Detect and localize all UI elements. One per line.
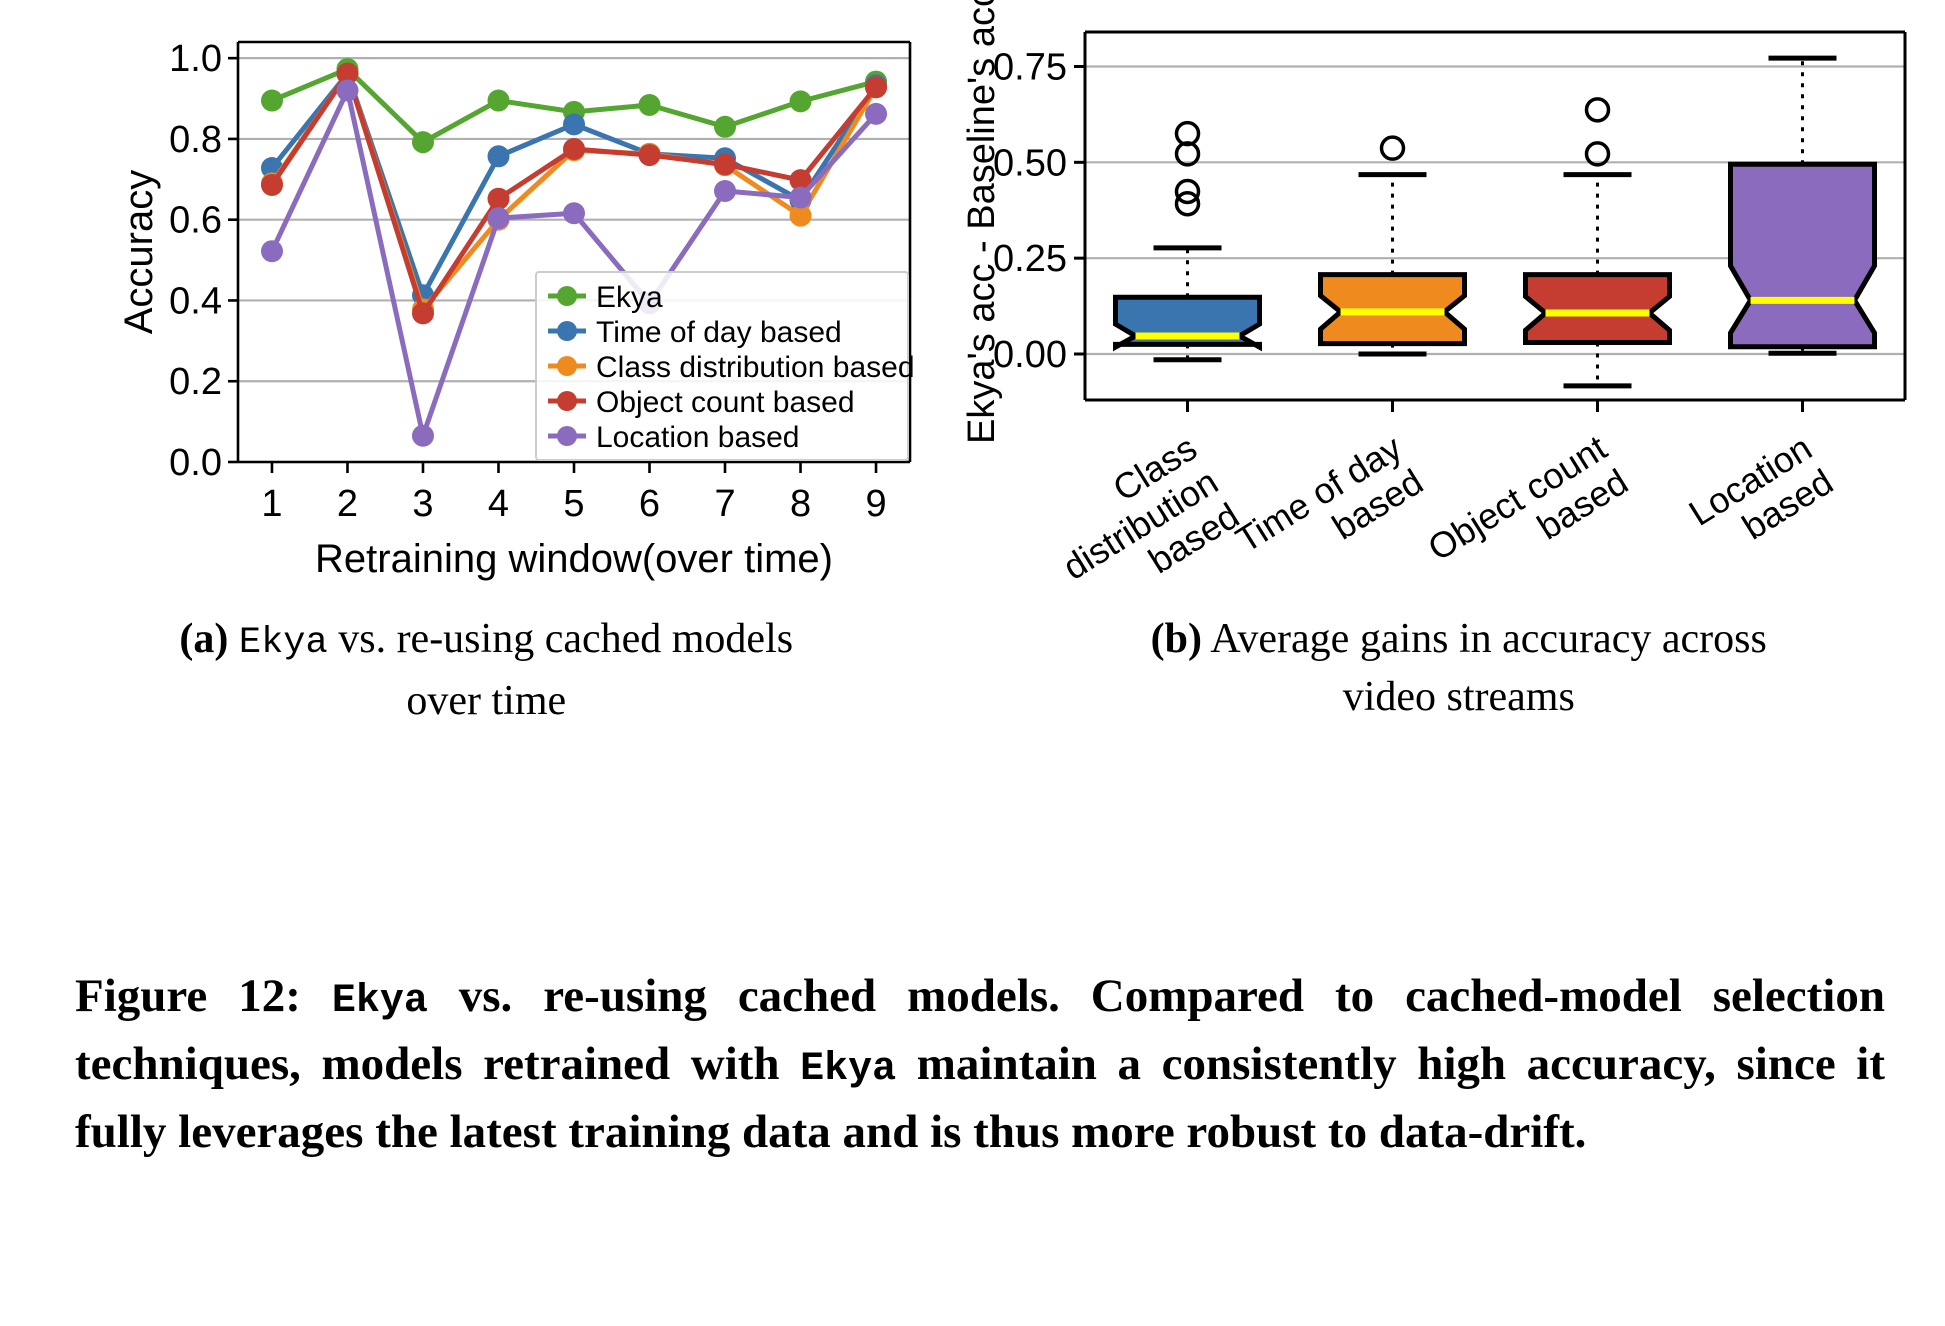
xtick-label: 2 xyxy=(337,483,358,525)
data-point xyxy=(261,90,283,112)
figure-12: 0.00.20.40.60.81.0123456789Retraining wi… xyxy=(0,0,1945,1326)
legend: EkyaTime of day basedClass distribution … xyxy=(536,272,915,460)
panel-a-line-chart: 0.00.20.40.60.81.0123456789Retraining wi… xyxy=(120,10,940,590)
legend-swatch-marker xyxy=(557,426,577,446)
ytick-label: 0.0 xyxy=(169,442,222,484)
figure-panels: 0.00.20.40.60.81.0123456789Retraining wi… xyxy=(0,0,1945,600)
data-point xyxy=(487,145,509,167)
boxplot-class-distribution-based xyxy=(1116,123,1260,360)
data-point xyxy=(790,186,812,208)
ytick-label: 0.4 xyxy=(169,280,222,322)
ytick-label: 0.6 xyxy=(169,200,222,242)
data-point xyxy=(865,76,887,98)
outlier-point xyxy=(1382,137,1404,159)
data-point xyxy=(412,131,434,153)
xtick-label: 1 xyxy=(261,483,282,525)
data-point xyxy=(714,116,736,138)
data-point xyxy=(639,144,661,166)
caption-mono-2: Ekya xyxy=(800,1047,896,1092)
data-point xyxy=(336,79,358,101)
subcaption-a-mono: Ekya xyxy=(239,622,328,664)
x-axis-label: Retraining window(over time) xyxy=(315,537,833,581)
data-point xyxy=(412,425,434,447)
boxplot-object-count-based xyxy=(1526,99,1670,386)
y-axis-label: Accuracy xyxy=(120,170,161,335)
outlier-point xyxy=(1587,99,1609,121)
data-point xyxy=(412,302,434,324)
data-point xyxy=(714,153,736,175)
subcaption-a-tag: (a) xyxy=(179,616,228,662)
subcaption-a: (a) Ekya vs. re-using cached models over… xyxy=(0,610,973,780)
box-plot-svg: 0.000.250.500.75Ekya's acc - Baseline's … xyxy=(960,0,1945,600)
box-body xyxy=(1526,275,1670,343)
data-point xyxy=(563,113,585,135)
data-point xyxy=(487,90,509,112)
legend-label: Time of day based xyxy=(596,316,842,349)
legend-label: Ekya xyxy=(596,281,663,314)
legend-label: Object count based xyxy=(596,386,855,419)
ytick-label: 0.2 xyxy=(169,361,222,403)
xtick-label: 5 xyxy=(563,483,584,525)
legend-item: Class distribution based xyxy=(548,351,915,384)
legend-swatch-marker xyxy=(557,321,577,341)
xtick-label: Time of daybased xyxy=(1229,427,1430,595)
data-point xyxy=(563,138,585,160)
legend-swatch-marker xyxy=(557,356,577,376)
legend-label: Class distribution based xyxy=(596,351,915,384)
box-body xyxy=(1731,164,1875,346)
xtick-label: 7 xyxy=(714,483,735,525)
subcaptions: (a) Ekya vs. re-using cached models over… xyxy=(0,610,1945,780)
data-point xyxy=(714,180,736,202)
ytick-label: 1.0 xyxy=(169,38,222,80)
xtick-label: Locationbased xyxy=(1682,427,1840,568)
line-chart-svg: 0.00.20.40.60.81.0123456789Retraining wi… xyxy=(120,10,940,590)
subcaption-a-text: vs. re-using cached models over time xyxy=(328,616,793,724)
data-point xyxy=(790,90,812,112)
subcaption-b-tag: (b) xyxy=(1151,616,1202,662)
box-body xyxy=(1116,297,1260,347)
data-point xyxy=(261,240,283,262)
boxplot-location-based xyxy=(1731,58,1875,353)
xtick-label: 4 xyxy=(488,483,509,525)
data-point xyxy=(261,174,283,196)
xtick-label: 8 xyxy=(790,483,811,525)
ytick-label: 0.8 xyxy=(169,119,222,161)
data-point xyxy=(487,207,509,229)
ytick-label: 0.25 xyxy=(993,238,1067,280)
xtick-label: Classdistributionbased xyxy=(1034,427,1246,600)
xtick-label: Object countbased xyxy=(1421,427,1635,600)
y-axis-label: Ekya's acc - Baseline's acc xyxy=(961,0,1003,444)
ytick-label: 0.75 xyxy=(993,47,1067,89)
caption-label: Figure 12: xyxy=(75,970,301,1022)
caption-mono-1: Ekya xyxy=(332,979,428,1024)
legend-label: Location based xyxy=(596,421,800,454)
data-point xyxy=(563,202,585,224)
subcaption-b: (b) Average gains in accuracy across vid… xyxy=(973,610,1945,780)
boxplot-time-of-day-based xyxy=(1321,137,1465,354)
panel-b-box-plot: 0.000.250.500.75Ekya's acc - Baseline's … xyxy=(960,0,1945,600)
xtick-label: 3 xyxy=(412,483,433,525)
data-point xyxy=(639,94,661,116)
legend-swatch-marker xyxy=(557,391,577,411)
xtick-label: 9 xyxy=(865,483,886,525)
legend-swatch-marker xyxy=(557,286,577,306)
data-point xyxy=(487,188,509,210)
xtick-label: 6 xyxy=(639,483,660,525)
data-point xyxy=(865,103,887,125)
figure-caption: Figure 12: Ekya vs. re-using cached mode… xyxy=(75,965,1885,1163)
ytick-label: 0.50 xyxy=(993,142,1067,184)
ytick-label: 0.00 xyxy=(993,334,1067,376)
subcaption-b-text: Average gains in accuracy across video s… xyxy=(1202,616,1767,720)
